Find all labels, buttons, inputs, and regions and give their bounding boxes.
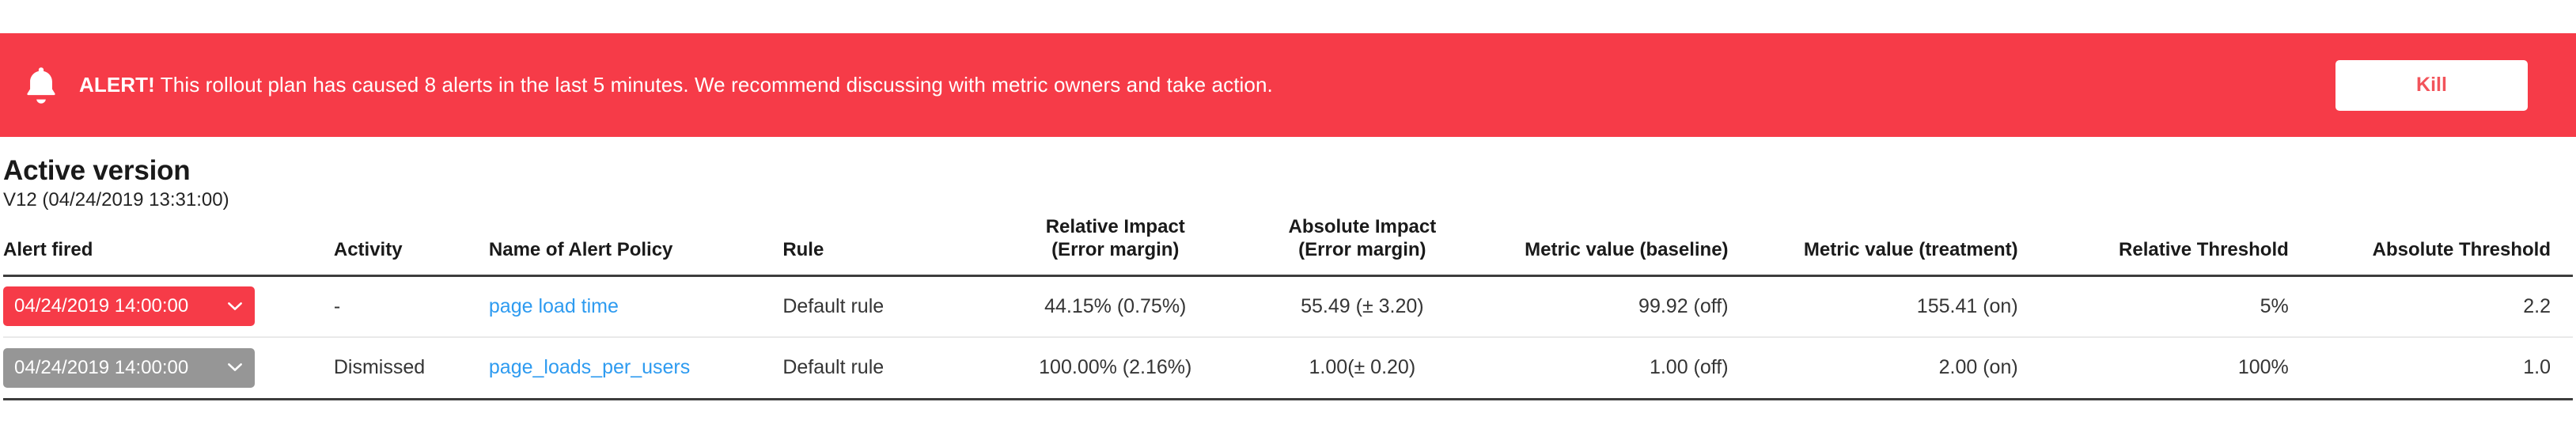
chevron-down-icon [228,363,242,372]
cell-rule: Default rule [782,275,991,337]
alert-message-text: This rollout plan has caused 8 alerts in… [161,73,1273,97]
cell-relative-threshold: 5% [2052,275,2338,337]
column-header-alert-fired: Alert fired [3,215,334,275]
cell-activity: - [334,275,489,337]
column-header-metric-baseline: Metric value (baseline) [1485,215,1767,275]
column-header-absolute-impact-line1: Absolute Impact [1240,215,1485,238]
cell-relative-impact: 44.15% (0.75%) [991,275,1240,337]
column-header-absolute-impact-line2: (Error margin) [1240,238,1485,261]
cell-absolute-impact: 55.49 (± 3.20) [1240,275,1485,337]
column-header-relative-impact-line1: Relative Impact [991,215,1240,238]
column-header-activity: Activity [334,215,489,275]
policy-link[interactable]: page load time [489,295,619,317]
cell-metric-baseline: 99.92 (off) [1485,275,1767,337]
alert-banner-content: ALERT! This rollout plan has caused 8 al… [0,66,2335,104]
column-header-absolute-threshold: Absolute Threshold [2338,215,2573,275]
alert-fired-timestamp: 04/24/2019 14:00:00 [14,295,188,317]
page-heading: Active version V12 (04/24/2019 13:31:00) [3,155,229,212]
cell-activity: Dismissed [334,337,489,399]
kill-button[interactable]: Kill [2335,60,2528,111]
column-header-absolute-impact: Absolute Impact (Error margin) [1240,215,1485,275]
column-header-rule: Rule [782,215,991,275]
alert-message: ALERT! This rollout plan has caused 8 al… [79,73,1273,97]
page-title: Active version [3,155,229,186]
table-row: 04/24/2019 14:00:00 - page load time Def… [3,275,2573,337]
alert-fired-dropdown[interactable]: 04/24/2019 14:00:00 [3,348,255,388]
cell-relative-threshold: 100% [2052,337,2338,399]
column-header-policy: Name of Alert Policy [489,215,782,275]
alerts-table: Alert fired Activity Name of Alert Polic… [3,215,2573,400]
cell-absolute-threshold: 1.0 [2338,337,2573,399]
policy-link[interactable]: page_loads_per_users [489,356,690,378]
bell-icon [24,66,59,104]
cell-metric-baseline: 1.00 (off) [1485,337,1767,399]
cell-metric-treatment: 2.00 (on) [1767,337,2052,399]
cell-relative-impact: 100.00% (2.16%) [991,337,1240,399]
cell-alert-fired: 04/24/2019 14:00:00 [3,275,334,337]
chevron-down-icon [228,302,242,311]
alert-fired-timestamp: 04/24/2019 14:00:00 [14,357,188,379]
cell-absolute-threshold: 2.2 [2338,275,2573,337]
column-header-metric-treatment: Metric value (treatment) [1767,215,2052,275]
cell-metric-treatment: 155.41 (on) [1767,275,2052,337]
column-header-relative-threshold: Relative Threshold [2052,215,2338,275]
version-subtitle: V12 (04/24/2019 13:31:00) [3,189,229,212]
cell-alert-fired: 04/24/2019 14:00:00 [3,337,334,399]
alert-banner: ALERT! This rollout plan has caused 8 al… [0,33,2576,137]
column-header-relative-impact-line2: (Error margin) [991,238,1240,261]
cell-policy: page load time [489,275,782,337]
cell-policy: page_loads_per_users [489,337,782,399]
column-header-relative-impact: Relative Impact (Error margin) [991,215,1240,275]
table-body: 04/24/2019 14:00:00 - page load time Def… [3,275,2573,399]
cell-rule: Default rule [782,337,991,399]
alert-strong-label: ALERT! [79,73,155,97]
alert-fired-dropdown[interactable]: 04/24/2019 14:00:00 [3,286,255,326]
table-header-row: Alert fired Activity Name of Alert Polic… [3,215,2573,275]
table-header: Alert fired Activity Name of Alert Polic… [3,215,2573,275]
cell-absolute-impact: 1.00(± 0.20) [1240,337,1485,399]
table-row: 04/24/2019 14:00:00 Dismissed page_loads… [3,337,2573,399]
